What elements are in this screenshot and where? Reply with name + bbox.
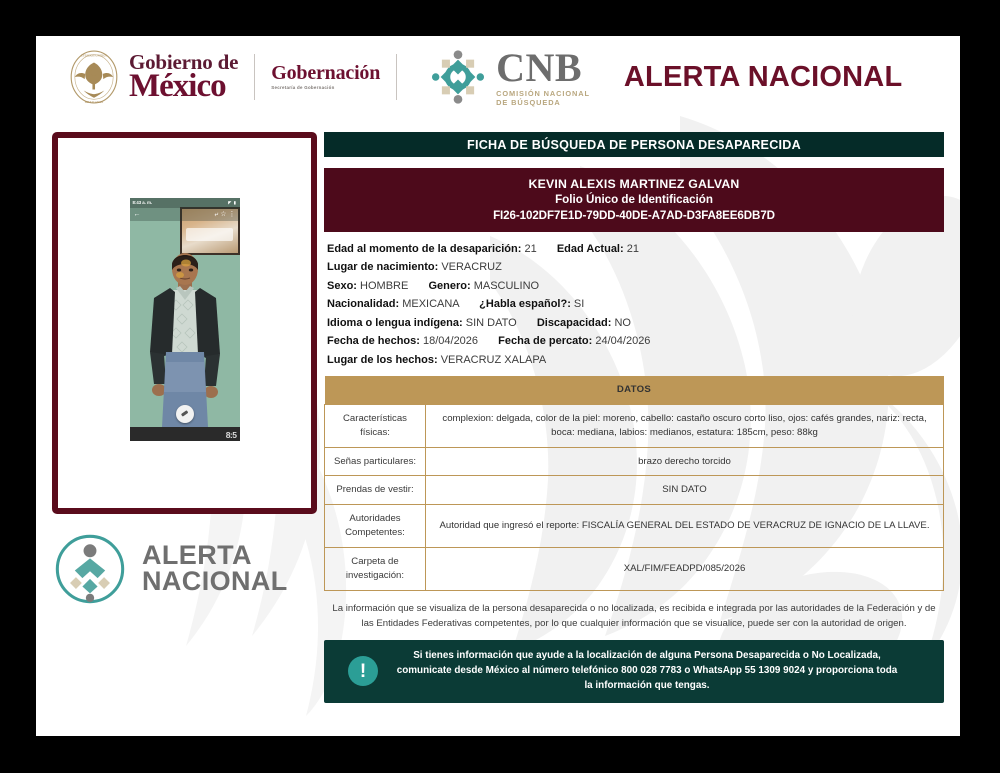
row-label: Señas particulares: xyxy=(325,447,426,476)
edad-desaparicion-value: 21 xyxy=(524,243,536,255)
nacionalidad-label: Nacionalidad: xyxy=(327,298,399,310)
alerta-nacional-title: ALERTA NACIONAL xyxy=(624,61,902,94)
detail-row-sexo-genero: Sexo: HOMBRE Genero: MASCULINO xyxy=(327,280,944,292)
alerta-nacional-logo: ALERTA NACIONAL xyxy=(52,526,324,612)
mexican-eagle-seal-icon: ESTADOS UNIDOS MEXICANOS xyxy=(68,49,120,105)
detail-row-lugar-nacimiento: Lugar de nacimiento: VERACRUZ xyxy=(327,261,944,273)
nacionalidad-value: MEXICANA xyxy=(402,298,459,310)
gobernacion-subtitle: Secretaría de Gobernación xyxy=(271,86,380,90)
alerta-emblem-icon xyxy=(52,531,128,607)
table-row: Características físicas: complexion: del… xyxy=(325,404,944,447)
photo-timestamp: 8:5 xyxy=(226,430,237,440)
exclamation-icon: ! xyxy=(348,656,378,686)
row-label: Prendas de vestir: xyxy=(325,476,426,505)
phone-signal-icons: ◤ ▮ xyxy=(228,200,236,206)
row-value: Autoridad que ingresó el reporte: FISCAL… xyxy=(426,505,944,548)
row-label: Autoridades Competentes: xyxy=(325,505,426,548)
discapacidad-value: NO xyxy=(614,317,631,329)
ficha-page: ESTADOS UNIDOS MEXICANOS Gobierno de Méx… xyxy=(36,36,960,736)
person-photo: 8:43 a. m. ◤ ▮ ← ⤶ ☆ ⋮ 8:5 xyxy=(130,198,240,441)
contact-banner: ! Si tienes información que ayude a la l… xyxy=(324,640,944,703)
detail-row-idioma: Idioma o lengua indígena: SIN DATO Disca… xyxy=(327,317,944,329)
cnb-sub-line1: COMISIÓN NACIONAL xyxy=(496,90,590,97)
genero-label: Genero: xyxy=(428,280,470,292)
phone-app-bar: ← ⤶ ☆ ⋮ xyxy=(130,208,240,221)
fecha-hechos-value: 18/04/2026 xyxy=(423,335,478,347)
page-header: ESTADOS UNIDOS MEXICANOS Gobierno de Méx… xyxy=(36,36,960,118)
photo-frame: 8:43 a. m. ◤ ▮ ← ⤶ ☆ ⋮ 8:5 xyxy=(52,132,317,514)
gobernacion-logo: Gobernación Secretaría de Gobernación xyxy=(271,63,380,90)
contact-text: Si tienes información que ayude a la loc… xyxy=(378,649,930,694)
gobierno-de-mexico-logo: ESTADOS UNIDOS MEXICANOS Gobierno de Méx… xyxy=(68,49,238,105)
datos-header-row: DATOS xyxy=(325,376,944,404)
folio-label: Folio Único de Identificación xyxy=(334,192,934,207)
datos-table: DATOS Características físicas: complexio… xyxy=(324,376,944,591)
genero-value: MASCULINO xyxy=(474,280,539,292)
table-row: Señas particulares: brazo derecho torcid… xyxy=(325,447,944,476)
idioma-value: SIN DATO xyxy=(466,317,517,329)
fecha-percato-label: Fecha de percato: xyxy=(498,335,592,347)
phone-status-bar: 8:43 a. m. ◤ ▮ xyxy=(130,198,240,208)
lugar-hechos-label: Lugar de los hechos: xyxy=(327,354,438,366)
habla-espanol-value: SI xyxy=(574,298,584,310)
header-divider-2 xyxy=(396,54,397,100)
photo-bottom-bar xyxy=(130,427,240,441)
folio-value: FI26-102DF7E1D-79DD-40DE-A7AD-D3FA8EE6DB… xyxy=(334,208,934,223)
person-figure xyxy=(130,242,240,427)
disclaimer-text: La información que se visualiza de la pe… xyxy=(324,602,944,631)
person-details: Edad al momento de la desaparición: 21 E… xyxy=(324,243,944,366)
table-row: Prendas de vestir: SIN DATO xyxy=(325,476,944,505)
row-value: SIN DATO xyxy=(426,476,944,505)
row-value: complexion: delgada, color de la piel: m… xyxy=(426,404,944,447)
habla-espanol-label: ¿Habla español?: xyxy=(479,298,571,310)
sexo-label: Sexo: xyxy=(327,280,357,292)
table-row: Autoridades Competentes: Autoridad que i… xyxy=(325,505,944,548)
header-divider-1 xyxy=(254,54,255,100)
row-label: Carpeta de investigación: xyxy=(325,548,426,591)
fecha-hechos-label: Fecha de hechos: xyxy=(327,335,420,347)
detail-row-nacionalidad: Nacionalidad: MEXICANA ¿Habla español?: … xyxy=(327,298,944,310)
detail-row-edad: Edad al momento de la desaparición: 21 E… xyxy=(327,243,944,255)
edad-actual-label: Edad Actual: xyxy=(557,243,624,255)
ficha-content: FICHA DE BÚSQUEDA DE PERSONA DESAPARECID… xyxy=(324,132,944,703)
cnb-sub-line2: DE BÚSQUEDA xyxy=(496,99,590,106)
lugar-nacimiento-label: Lugar de nacimiento: xyxy=(327,261,438,273)
cnb-logo: CNB COMISIÓN NACIONAL DE BÚSQUEDA xyxy=(427,46,590,108)
idioma-label: Idioma o lengua indígena: xyxy=(327,317,463,329)
person-name: KEVIN ALEXIS MARTINEZ GALVAN xyxy=(334,176,934,192)
phone-action-icons[interactable]: ⤶ ☆ ⋮ xyxy=(214,210,235,219)
row-label: Características físicas: xyxy=(325,404,426,447)
detail-row-fechas: Fecha de hechos: 18/04/2026 Fecha de per… xyxy=(327,335,944,347)
lugar-hechos-value: VERACRUZ XALAPA xyxy=(441,354,547,366)
svg-text:MEXICANOS: MEXICANOS xyxy=(85,100,104,104)
gobierno-line2: México xyxy=(129,70,238,103)
edit-fab-button[interactable] xyxy=(176,405,194,423)
discapacidad-label: Discapacidad: xyxy=(537,317,612,329)
edad-desaparicion-label: Edad al momento de la desaparición: xyxy=(327,243,521,255)
table-row: Carpeta de investigación: XAL/FIM/FEADPD… xyxy=(325,548,944,591)
cnb-emblem-icon xyxy=(427,46,489,108)
detail-row-lugar-hechos: Lugar de los hechos: VERACRUZ XALAPA xyxy=(327,354,944,366)
gobernacion-title: Gobernación xyxy=(271,63,380,83)
lugar-nacimiento-value: VERACRUZ xyxy=(441,261,502,273)
edad-actual-value: 21 xyxy=(627,243,639,255)
fecha-percato-value: 24/04/2026 xyxy=(595,335,650,347)
alerta-logo-line2: NACIONAL xyxy=(142,569,288,595)
ficha-banner: FICHA DE BÚSQUEDA DE PERSONA DESAPARECID… xyxy=(324,132,944,157)
row-value: XAL/FIM/FEADPD/085/2026 xyxy=(426,548,944,591)
cnb-acronym: CNB xyxy=(496,48,590,88)
row-value: brazo derecho torcido xyxy=(426,447,944,476)
phone-clock: 8:43 a. m. xyxy=(133,200,153,205)
svg-text:ESTADOS UNIDOS: ESTADOS UNIDOS xyxy=(81,53,108,57)
datos-header: DATOS xyxy=(325,376,944,404)
sexo-value: HOMBRE xyxy=(360,280,408,292)
back-arrow-icon[interactable]: ← xyxy=(134,211,141,218)
person-identity-block: KEVIN ALEXIS MARTINEZ GALVAN Folio Único… xyxy=(324,168,944,232)
